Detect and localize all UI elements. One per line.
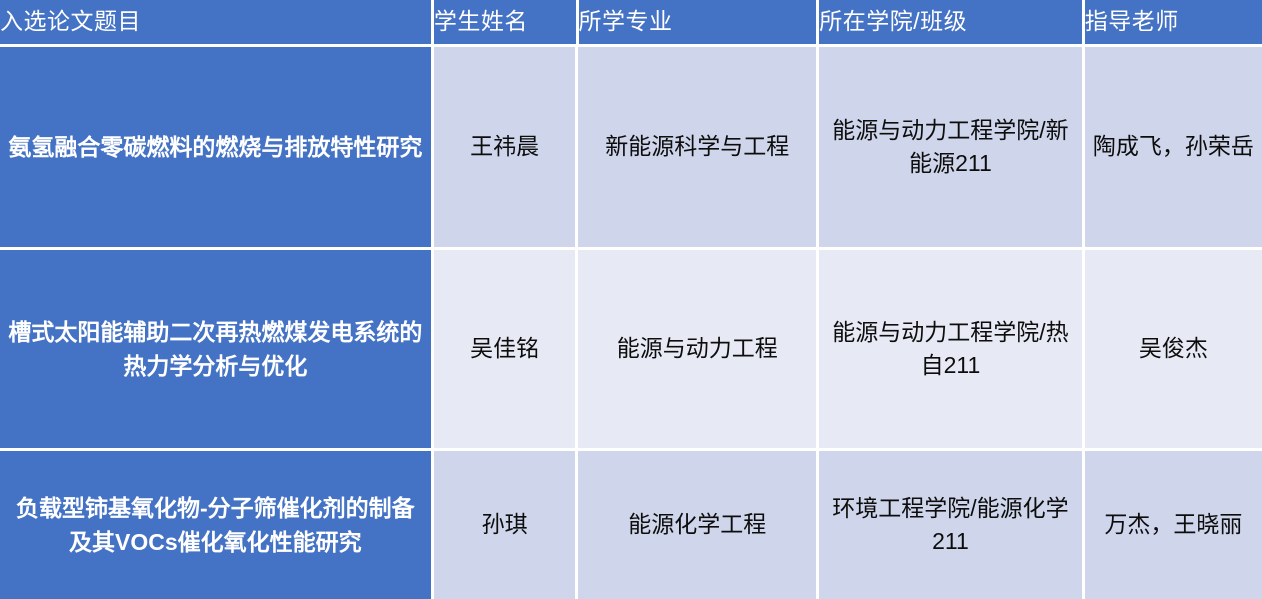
cell-advisor: 陶成飞，孙荣岳	[1085, 47, 1262, 247]
cell-major-text: 能源化学工程	[586, 508, 808, 541]
cell-college-class-text: 环境工程学院/能源化学211	[827, 492, 1073, 559]
cell-advisor-text: 吴俊杰	[1093, 332, 1254, 365]
cell-college-class-text: 能源与动力工程学院/热自211	[827, 316, 1073, 383]
cell-paper-title-text: 负载型铈基氧化物-分子筛催化剂的制备及其VOCs催化氧化性能研究	[6, 491, 425, 560]
column-header-title-label: 入选论文题目	[0, 9, 431, 34]
cell-college-class: 能源与动力工程学院/热自211	[819, 250, 1081, 448]
column-header-name: 学生姓名	[434, 0, 576, 44]
selected-papers-table: 入选论文题目 学生姓名 所学专业 所在学院/班级 指导老师 氨氢融合零碳燃料的燃…	[0, 0, 1262, 596]
table-row: 槽式太阳能辅助二次再热燃煤发电系统的热力学分析与优化 吴佳铭 能源与动力工程 能…	[0, 250, 1262, 448]
table-row: 氨氢融合零碳燃料的燃烧与排放特性研究 王祎晨 新能源科学与工程 能源与动力工程学…	[0, 47, 1262, 247]
cell-college-class: 能源与动力工程学院/新能源211	[819, 47, 1081, 247]
cell-college-class-text: 能源与动力工程学院/新能源211	[827, 114, 1073, 181]
cell-student-name-text: 吴佳铭	[442, 332, 568, 365]
cell-paper-title-text: 氨氢融合零碳燃料的燃烧与排放特性研究	[6, 130, 425, 165]
cell-major: 能源化学工程	[578, 451, 816, 599]
column-header-title: 入选论文题目	[0, 0, 431, 44]
column-header-college-label: 所在学院/班级	[819, 9, 1081, 34]
table-header-row: 入选论文题目 学生姓名 所学专业 所在学院/班级 指导老师	[0, 0, 1262, 44]
table-row: 负载型铈基氧化物-分子筛催化剂的制备及其VOCs催化氧化性能研究 孙琪 能源化学…	[0, 451, 1262, 599]
column-header-teacher-label: 指导老师	[1085, 9, 1262, 34]
column-header-major-label: 所学专业	[579, 9, 817, 34]
cell-student-name: 王祎晨	[434, 47, 576, 247]
cell-paper-title: 氨氢融合零碳燃料的燃烧与排放特性研究	[0, 47, 431, 247]
cell-student-name: 吴佳铭	[434, 250, 576, 448]
column-header-name-label: 学生姓名	[434, 9, 576, 34]
cell-advisor-text: 万杰，王晓丽	[1093, 508, 1254, 541]
cell-major-text: 能源与动力工程	[586, 332, 808, 365]
cell-major: 能源与动力工程	[578, 250, 816, 448]
cell-advisor-text: 陶成飞，孙荣岳	[1093, 130, 1254, 163]
cell-student-name: 孙琪	[434, 451, 576, 599]
cell-paper-title-text: 槽式太阳能辅助二次再热燃煤发电系统的热力学分析与优化	[6, 315, 425, 384]
cell-advisor: 万杰，王晓丽	[1085, 451, 1262, 599]
cell-major: 新能源科学与工程	[578, 47, 816, 247]
column-header-college: 所在学院/班级	[819, 0, 1081, 44]
cell-student-name-text: 孙琪	[442, 508, 568, 541]
column-header-teacher: 指导老师	[1085, 0, 1262, 44]
cell-paper-title: 负载型铈基氧化物-分子筛催化剂的制备及其VOCs催化氧化性能研究	[0, 451, 431, 599]
cell-paper-title: 槽式太阳能辅助二次再热燃煤发电系统的热力学分析与优化	[0, 250, 431, 448]
cell-student-name-text: 王祎晨	[442, 130, 568, 163]
cell-college-class: 环境工程学院/能源化学211	[819, 451, 1081, 599]
cell-advisor: 吴俊杰	[1085, 250, 1262, 448]
cell-major-text: 新能源科学与工程	[586, 130, 808, 163]
column-header-major: 所学专业	[579, 0, 817, 44]
